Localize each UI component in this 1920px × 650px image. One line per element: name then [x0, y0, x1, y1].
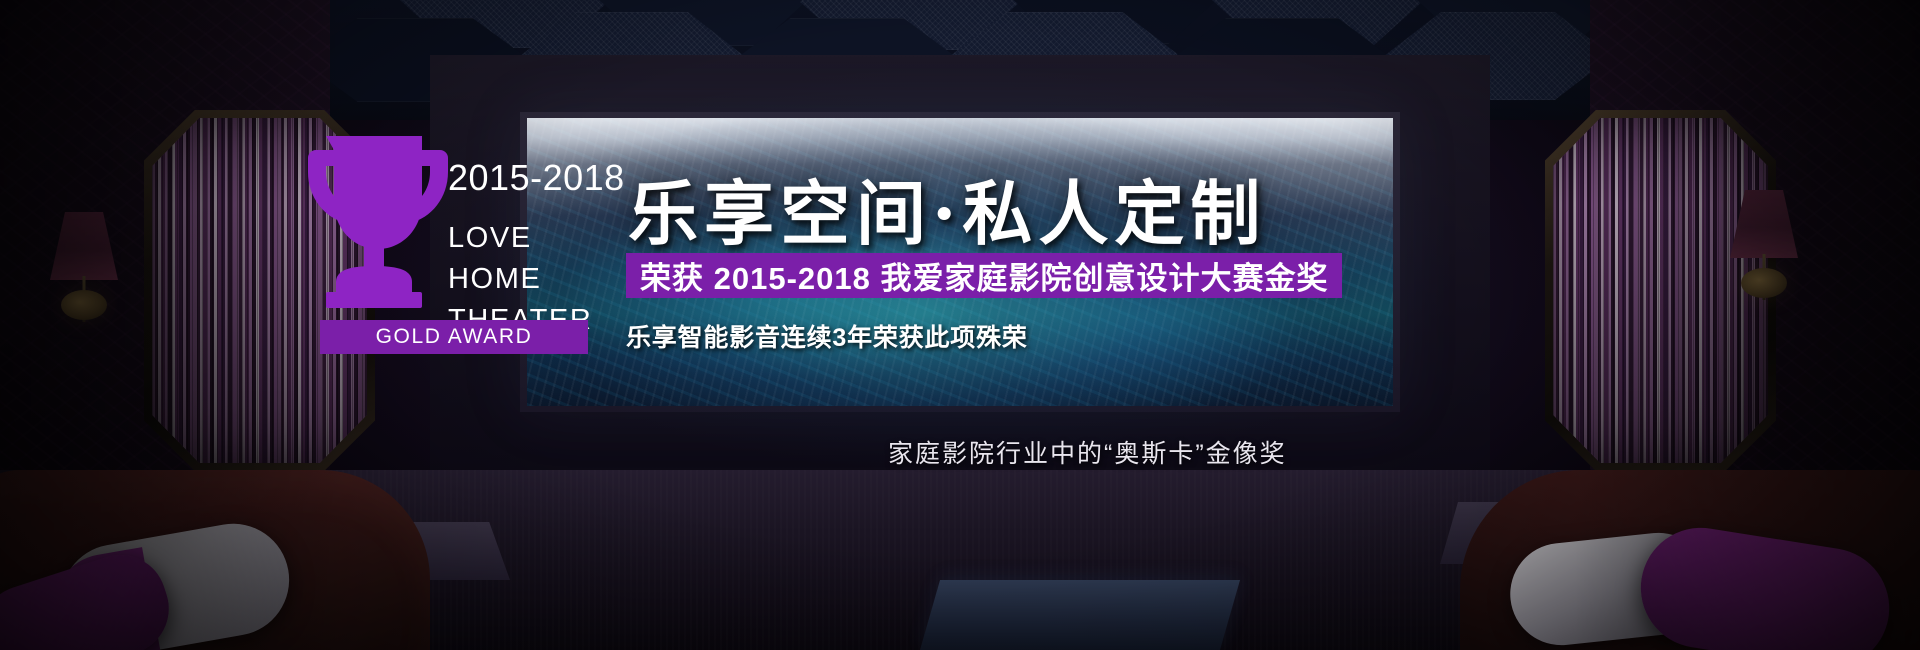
subtitle-badge: 荣获 2015-2018 我爱家庭影院创意设计大赛金奖 [626, 253, 1342, 298]
subtitle-text: 荣获 2015-2018 我爱家庭影院创意设计大赛金奖 [640, 253, 1328, 298]
award-years: 2015-2018 [448, 160, 608, 196]
award-text-block: 2015-2018 LOVE HOME THEATER [448, 160, 608, 342]
gold-award-label: GOLD AWARD [376, 325, 533, 349]
bottom-caption: 家庭影院行业中的“奥斯卡”金像奖 [888, 434, 1287, 470]
trophy-icon [300, 132, 448, 317]
tagline: 乐享智能影音连续3年荣获此项殊荣 [626, 318, 1028, 354]
page-title: 乐享空间·私人定制 [628, 158, 1266, 259]
gold-award-badge: GOLD AWARD [320, 320, 588, 354]
award-line-home: HOME [448, 259, 608, 300]
banner-content: 2015-2018 LOVE HOME THEATER GOLD AWARD 乐… [0, 0, 1920, 650]
award-line-love: LOVE [448, 218, 608, 259]
home-theater-award-banner: 2015-2018 LOVE HOME THEATER GOLD AWARD 乐… [0, 0, 1920, 650]
